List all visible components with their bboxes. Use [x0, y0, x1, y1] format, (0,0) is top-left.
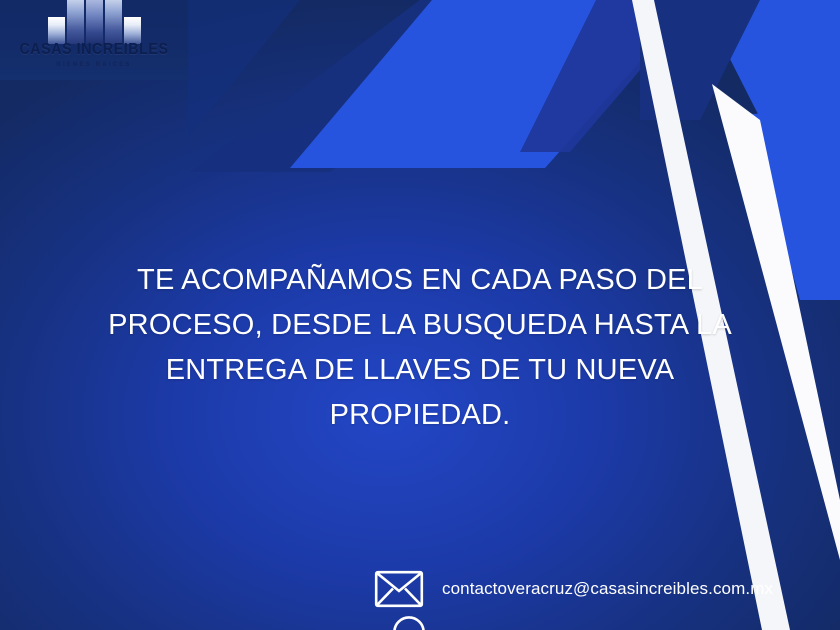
- headline-line-3: ENTREGA DE LLAVES DE TU NUEVA: [70, 348, 770, 393]
- whatsapp-circle-icon[interactable]: [392, 615, 426, 630]
- shape-right-dark-wedge: [640, 0, 760, 120]
- contact-email-text[interactable]: contactoveracruz@casasincreibles.com.mx: [442, 579, 773, 599]
- headline-line-4: PROPIEDAD.: [70, 393, 770, 438]
- contact-email-row[interactable]: contactoveracruz@casasincreibles.com.mx: [374, 570, 773, 608]
- logo-name-text: CASAS INCREIBLES: [8, 41, 181, 59]
- logo-subtitle-text: BIENES RAICES: [0, 62, 188, 68]
- headline-line-1: TE ACOMPAÑAMOS EN CADA PASO DEL: [70, 258, 770, 303]
- logo-bar-5: [124, 17, 141, 44]
- logo-bar-2: [67, 0, 84, 44]
- shape-deep-wedge: [520, 0, 700, 152]
- brand-logo: CASAS INCREIBLES BIENES RAICES: [0, 0, 188, 80]
- logo-bar-3: [86, 0, 103, 44]
- shape-right-bright-ribbon: [700, 0, 840, 120]
- promo-graphic-canvas: CASAS INCREIBLES BIENES RAICES TE ACOMPA…: [0, 0, 840, 630]
- buildings-bars-icon: [39, 0, 149, 44]
- headline-line-2: PROCESO, DESDE LA BUSQUEDA HASTA LA: [70, 303, 770, 348]
- shape-bright-parallelogram: [290, 0, 695, 168]
- logo-bar-1: [48, 17, 65, 44]
- envelope-icon: [374, 570, 424, 608]
- logo-bar-4: [105, 0, 122, 44]
- shape-dark-slab: [190, 0, 560, 172]
- shape-topleft-shade: [186, 0, 300, 140]
- headline-text: TE ACOMPAÑAMOS EN CADA PASO DEL PROCESO,…: [70, 258, 770, 438]
